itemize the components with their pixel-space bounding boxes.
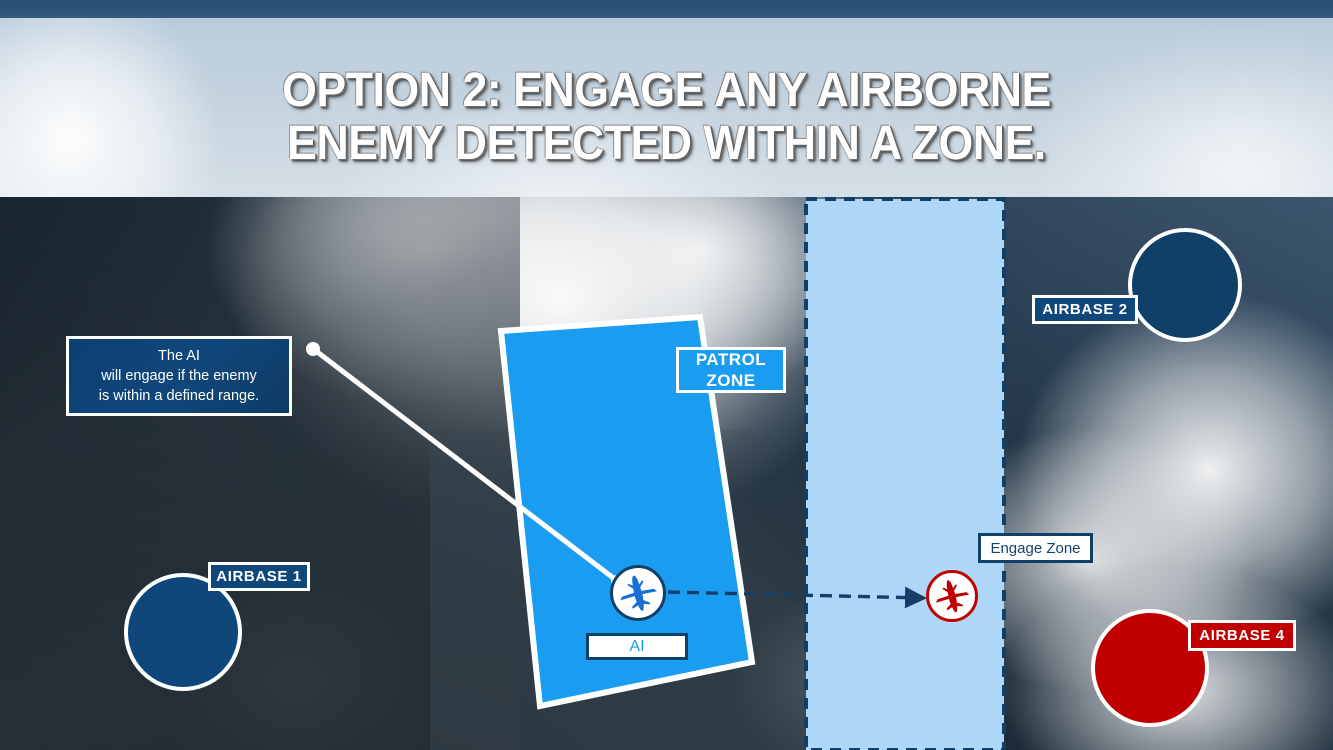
ai-label[interactable]: AI [586, 633, 688, 660]
airbase-2-label-text: AIRBASE 2 [1042, 301, 1127, 318]
ai-engage-callout: The AI will engage if the enemy is withi… [66, 336, 292, 416]
airbase-1-label[interactable]: AIRBASE 1 [208, 562, 310, 591]
airbase-4-label-text: AIRBASE 4 [1199, 627, 1284, 644]
patrol-zone-label-text: PATROL ZONE [696, 349, 766, 391]
airbase-1-circle[interactable] [126, 575, 240, 689]
ai-engage-callout-text: The AI will engage if the enemy is withi… [99, 346, 259, 406]
airbase-2-circle[interactable] [1130, 230, 1240, 340]
engage-zone-label[interactable]: Engage Zone [978, 533, 1093, 563]
airbase-1-label-text: AIRBASE 1 [216, 568, 301, 585]
airbase-4-label[interactable]: AIRBASE 4 [1188, 620, 1296, 651]
ai-fighter-marker[interactable] [610, 565, 666, 621]
airbase-2-label[interactable]: AIRBASE 2 [1032, 295, 1138, 324]
engage-zone-shape[interactable] [806, 199, 1004, 750]
slide-canvas: OPTION 2: ENGAGE ANY AIRBORNE ENEMY DETE… [0, 0, 1333, 750]
patrol-zone-label[interactable]: PATROL ZONE [676, 347, 786, 393]
enemy-fighter-marker[interactable] [926, 570, 978, 622]
ai-label-text: AI [629, 638, 644, 656]
engage-zone-label-text: Engage Zone [990, 540, 1080, 557]
fighter-jet-icon [616, 571, 660, 615]
fighter-jet-icon [932, 576, 972, 616]
